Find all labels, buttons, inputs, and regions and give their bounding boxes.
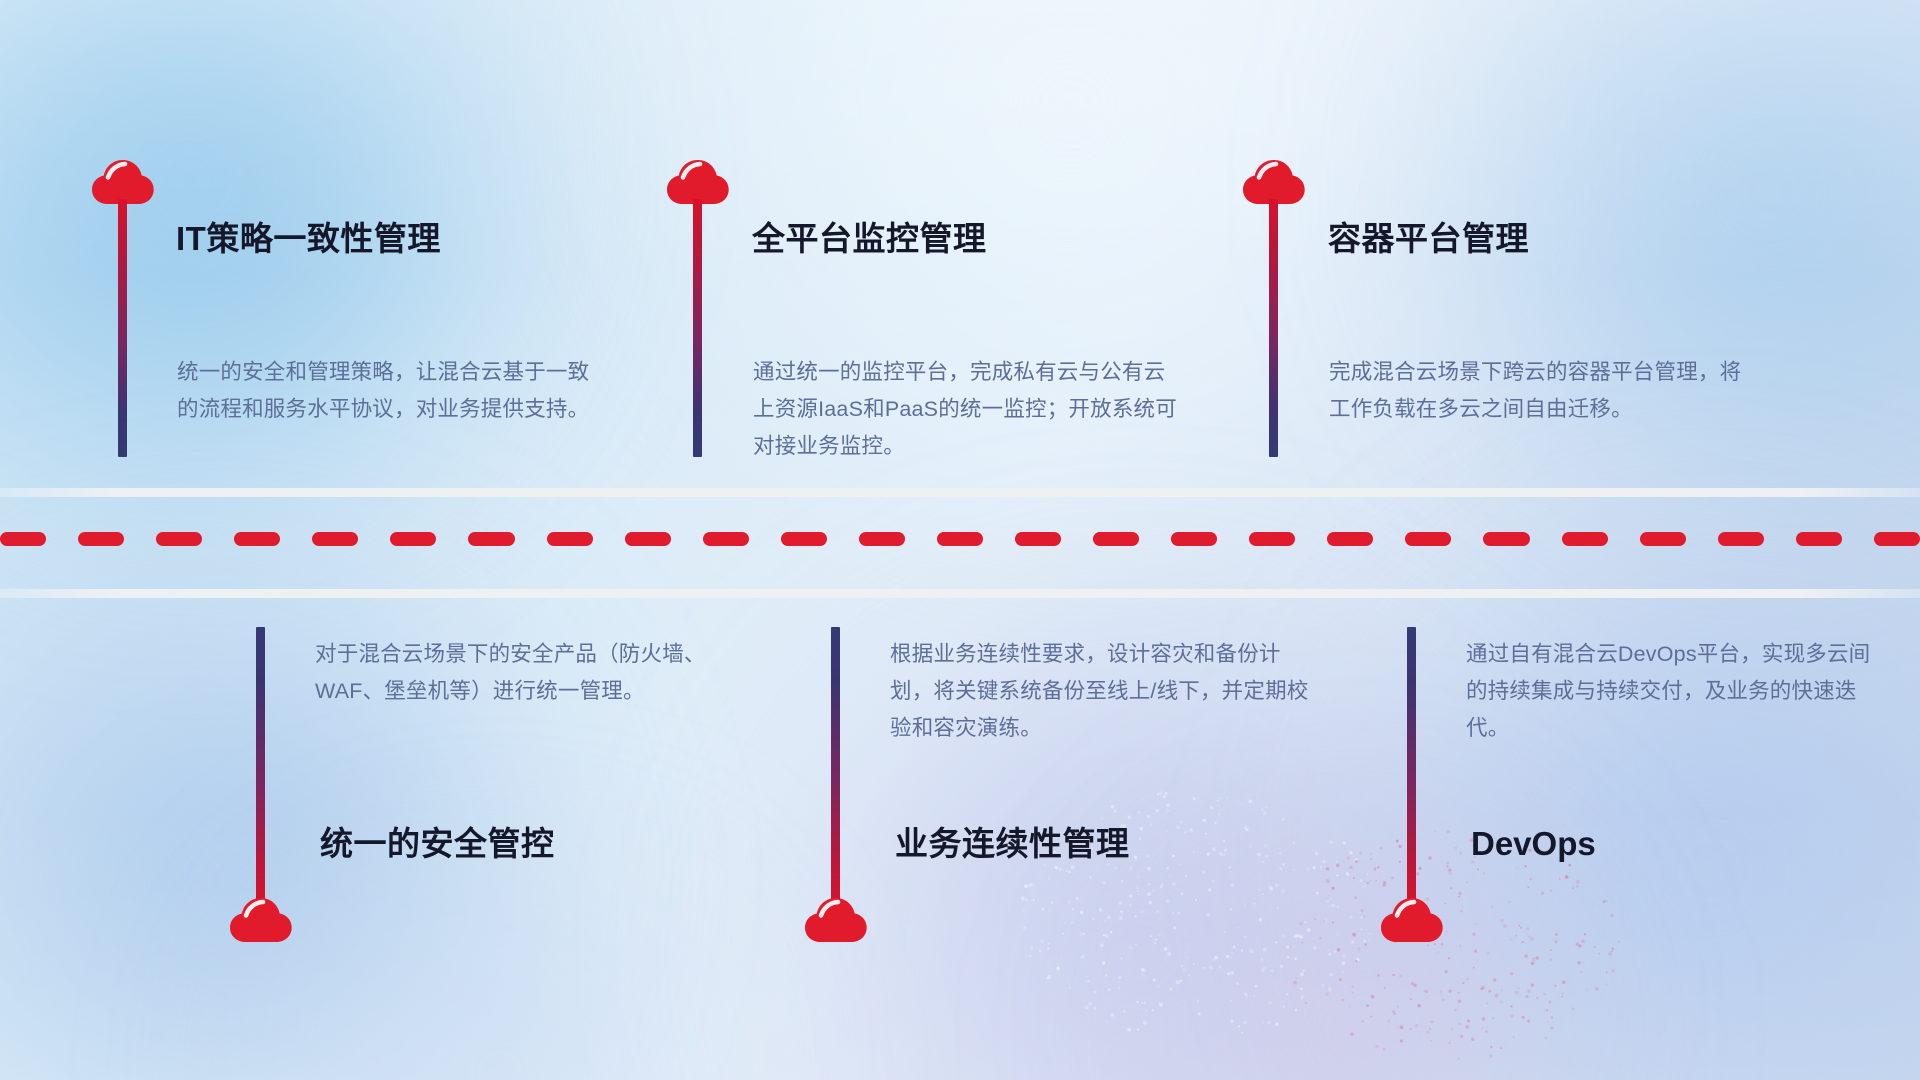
connector-stem xyxy=(831,627,840,905)
connector-stem xyxy=(256,627,265,905)
dash-segment xyxy=(1874,532,1920,546)
dash-segment xyxy=(156,532,202,546)
connector-stem xyxy=(693,199,702,457)
feature-title: 容器平台管理 xyxy=(1328,219,1529,259)
dash-segment xyxy=(1640,532,1686,546)
connector-stem xyxy=(1269,199,1278,457)
dash-segment xyxy=(625,532,671,546)
dash-segment xyxy=(1405,532,1451,546)
dash-segment xyxy=(1483,532,1529,546)
feature-description: 完成混合云场景下跨云的容器平台管理，将工作负载在多云之间自由迁移。 xyxy=(1329,354,1759,428)
feature-description: 通过统一的监控平台，完成私有云与公有云上资源IaaS和PaaS的统一监控；开放系… xyxy=(753,354,1183,465)
cloud-icon xyxy=(1381,898,1443,944)
feature-title: DevOps xyxy=(1471,824,1596,864)
dash-segment xyxy=(312,532,358,546)
connector-stem xyxy=(1407,627,1416,905)
feature-description: 统一的安全和管理策略，让混合云基于一致的流程和服务水平协议，对业务提供支持。 xyxy=(177,354,597,428)
feature-description: 通过自有混合云DevOps平台，实现多云间的持续集成与持续交付，及业务的快速迭代… xyxy=(1466,636,1886,747)
connector-stem xyxy=(118,199,127,457)
feature-title: 统一的安全管控 xyxy=(320,824,555,864)
dash-segment xyxy=(1171,532,1217,546)
dash-segment xyxy=(390,532,436,546)
dash-segment xyxy=(781,532,827,546)
dash-segment xyxy=(78,532,124,546)
cloud-icon xyxy=(230,898,292,944)
dash-segment xyxy=(859,532,905,546)
dash-segment xyxy=(1718,532,1764,546)
cloud-icon xyxy=(805,898,867,944)
dash-segment xyxy=(1562,532,1608,546)
feature-title: 全平台监控管理 xyxy=(752,219,987,259)
dash-segment xyxy=(234,532,280,546)
divider-band xyxy=(0,488,1920,598)
dash-segment xyxy=(0,532,46,546)
dash-segment xyxy=(1327,532,1373,546)
dash-segment xyxy=(937,532,983,546)
dash-segment xyxy=(1093,532,1139,546)
dash-segment xyxy=(468,532,514,546)
dash-segment xyxy=(1015,532,1061,546)
feature-description: 对于混合云场景下的安全产品（防火墙、WAF、堡垒机等）进行统一管理。 xyxy=(315,636,735,710)
divider-bar-bottom xyxy=(0,589,1920,598)
feature-title: IT策略一致性管理 xyxy=(176,219,441,259)
divider-bar-top xyxy=(0,488,1920,497)
dash-segment xyxy=(703,532,749,546)
feature-description: 根据业务连续性要求，设计容灾和备份计划，将关键系统备份至线上/线下，并定期校验和… xyxy=(890,636,1310,747)
dash-segment xyxy=(547,532,593,546)
feature-title: 业务连续性管理 xyxy=(895,824,1130,864)
infographic-canvas: IT策略一致性管理 统一的安全和管理策略，让混合云基于一致的流程和服务水平协议，… xyxy=(0,0,1920,1080)
dash-segment xyxy=(1796,532,1842,546)
dashed-separator-line xyxy=(0,532,1920,546)
dash-segment xyxy=(1249,532,1295,546)
